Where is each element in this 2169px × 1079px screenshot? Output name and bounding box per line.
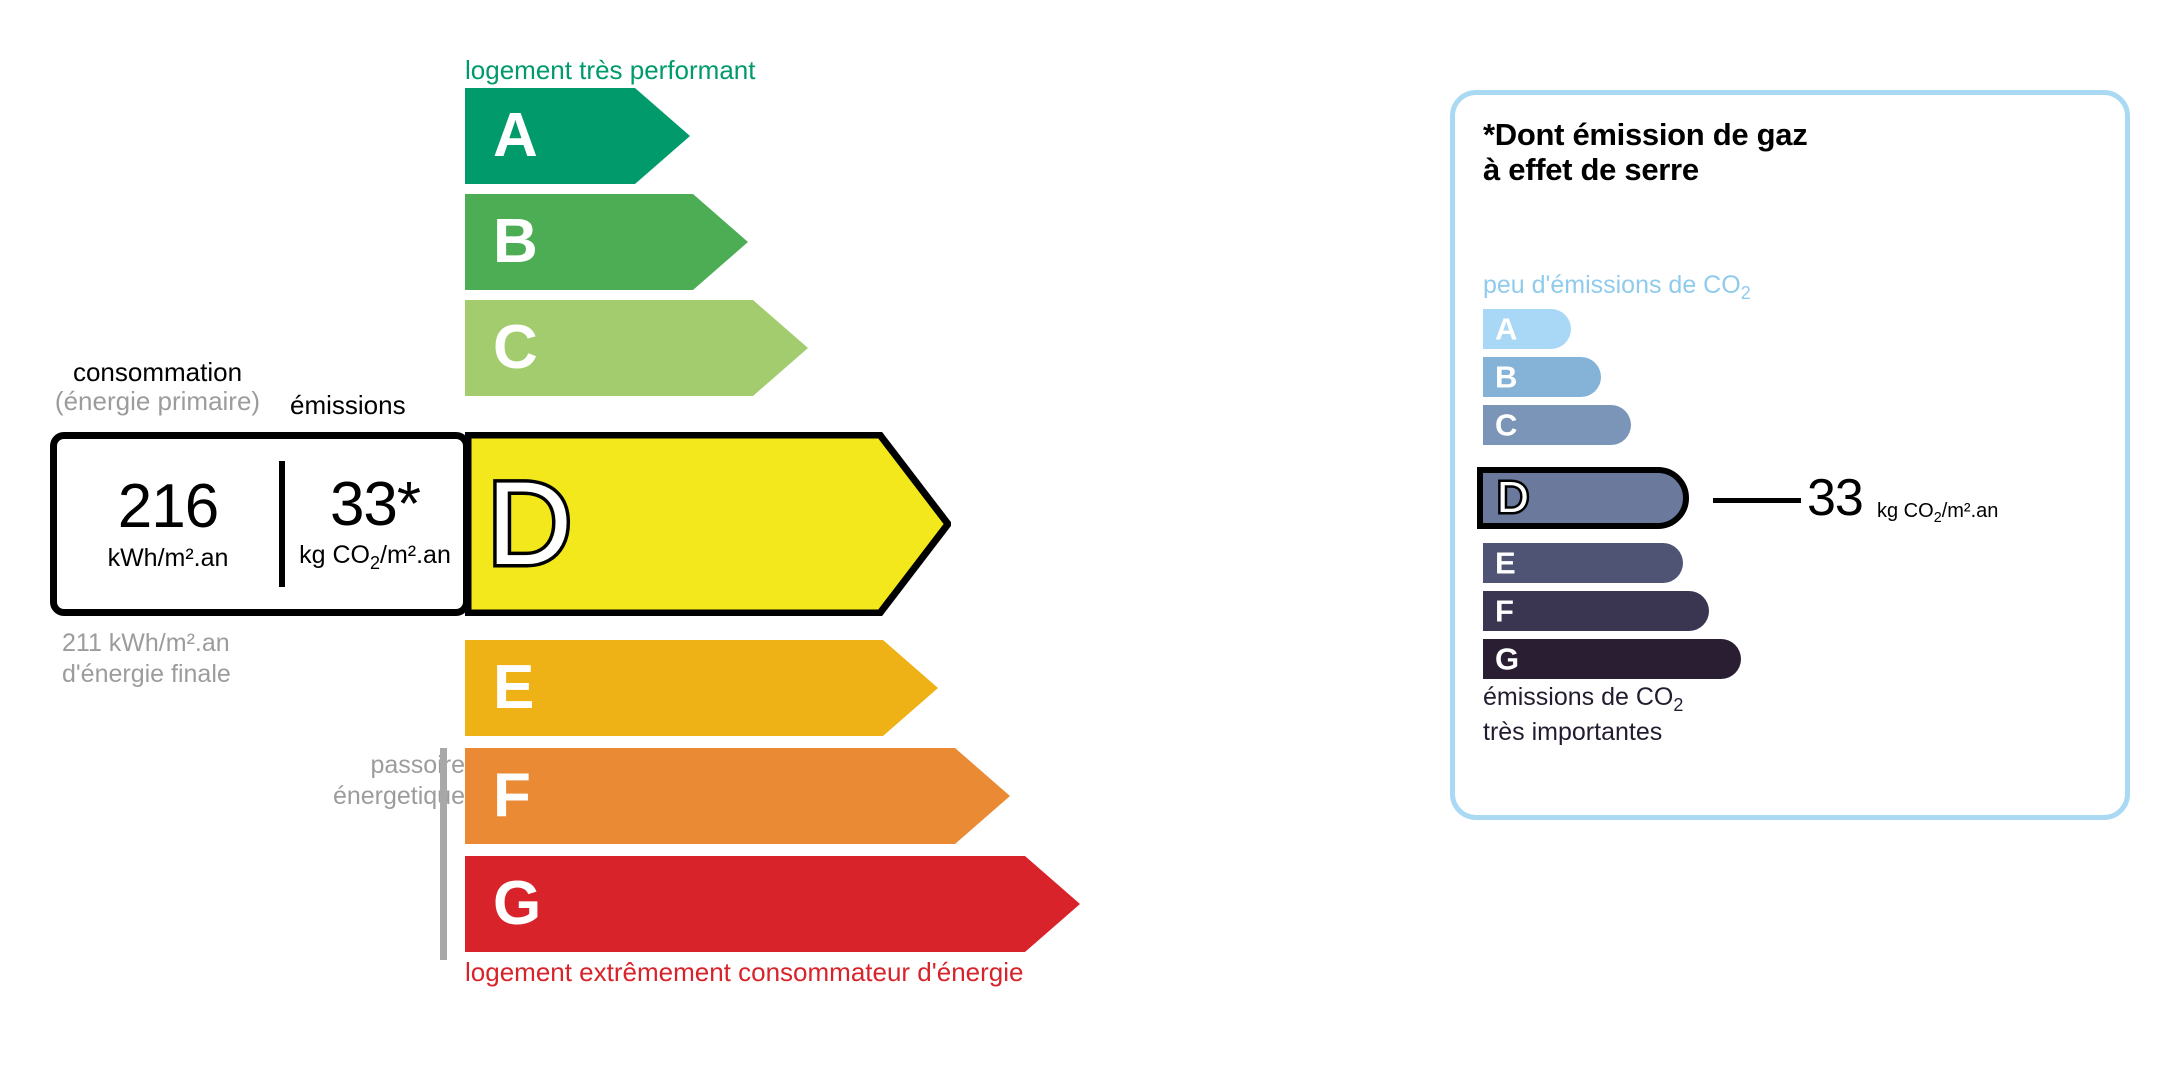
co2-title-line2: à effet de serre <box>1483 152 1807 187</box>
energy-band-F[interactable]: F <box>465 748 1010 844</box>
co2-bottom-caption-line1: émissions de CO2 <box>1483 682 1683 717</box>
passoire-bracket <box>440 748 447 960</box>
co2-bar-letter-E: E <box>1495 548 1516 579</box>
co2-bar-letter-F: F <box>1495 596 1514 627</box>
energy-band-A[interactable]: A <box>465 88 690 184</box>
co2-emissions-panel: *Dont émission de gaz à effet de serre p… <box>1450 90 2130 820</box>
energy-band-letter-D: D <box>487 465 572 583</box>
dpe-value-box: 216 kWh/m².an 33* kg CO2/m².an <box>50 432 470 616</box>
co2-bar-letter-B: B <box>1495 362 1517 393</box>
co2-bar-E[interactable]: E <box>1483 543 1683 583</box>
energy-band-letter-B: B <box>493 211 538 273</box>
energy-band-letter-A: A <box>493 105 538 167</box>
final-energy-note: 211 kWh/m².an d'énergie finale <box>62 628 231 690</box>
co2-bottom-caption-line2: très importantes <box>1483 717 1683 747</box>
co2-bar-D-selected[interactable]: D <box>1477 467 1689 529</box>
energy-band-letter-E: E <box>493 657 534 719</box>
co2-pill-C: C <box>1483 405 1631 445</box>
co2-pill-D: D <box>1477 467 1689 529</box>
passoire-line2: énergetique <box>280 781 465 812</box>
energy-band-C[interactable]: C <box>465 300 808 396</box>
energy-top-caption: logement très performant <box>465 55 755 86</box>
co2-bar-letter-C: C <box>1495 410 1517 441</box>
final-energy-line2: d'énergie finale <box>62 659 231 690</box>
energy-band-D-selected[interactable]: D <box>465 432 951 616</box>
co2-bar-letter-A: A <box>1495 314 1517 345</box>
co2-bar-C[interactable]: C <box>1483 405 1631 445</box>
co2-top-caption: peu d'émissions de CO2 <box>1483 271 1751 304</box>
consumption-value: 216 <box>118 475 218 538</box>
energy-band-B[interactable]: B <box>465 194 748 290</box>
consumption-unit: kWh/m².an <box>108 543 229 573</box>
final-energy-line1: 211 kWh/m².an <box>62 628 231 659</box>
band-arrow-shape-E <box>465 640 938 736</box>
co2-bar-G[interactable]: G <box>1483 639 1741 679</box>
co2-bottom-caption: émissions de CO2 très importantes <box>1483 682 1683 747</box>
co2-bar-letter-G: G <box>1495 644 1519 675</box>
passoire-note: passoire énergetique <box>280 750 465 811</box>
co2-bar-letter-D: D <box>1497 476 1529 520</box>
energy-band-G[interactable]: G <box>465 856 1080 952</box>
consumption-value-cell: 216 kWh/m².an <box>57 439 279 609</box>
emissions-label: émissions <box>290 390 406 421</box>
energy-band-E[interactable]: E <box>465 640 938 736</box>
emissions-unit: kg CO2/m².an <box>299 540 451 575</box>
co2-bar-A[interactable]: A <box>1483 309 1571 349</box>
passoire-line1: passoire <box>280 750 465 781</box>
co2-pill-G: G <box>1483 639 1741 679</box>
dpe-energy-diagram: logement très performant A B C D E <box>0 0 1400 1079</box>
co2-bar-B[interactable]: B <box>1483 357 1601 397</box>
emissions-value: 33* <box>330 473 420 536</box>
energy-band-letter-G: G <box>493 873 541 935</box>
consumption-label-main: consommation <box>73 357 242 387</box>
co2-pill-B: B <box>1483 357 1601 397</box>
energy-band-letter-F: F <box>493 765 531 827</box>
consumption-label: consommation (énergie primaire) <box>50 358 265 416</box>
co2-bar-F[interactable]: F <box>1483 591 1709 631</box>
co2-callout-unit: kg CO2/m².an <box>1877 500 1998 526</box>
co2-panel-title: *Dont émission de gaz à effet de serre <box>1483 117 1807 188</box>
emissions-value-cell: 33* kg CO2/m².an <box>285 439 465 609</box>
energy-bottom-caption: logement extrêmement consommateur d'éner… <box>465 957 1023 988</box>
co2-title-line1: *Dont émission de gaz <box>1483 117 1807 152</box>
co2-pill-F: F <box>1483 591 1709 631</box>
energy-band-letter-C: C <box>493 317 538 379</box>
co2-callout-value: 33 <box>1807 472 1863 524</box>
band-arrow-shape-G <box>465 856 1080 952</box>
co2-callout-leader-line <box>1713 498 1801 503</box>
co2-pill-E: E <box>1483 543 1683 583</box>
band-arrow-shape-F <box>465 748 1010 844</box>
co2-pill-A: A <box>1483 309 1571 349</box>
consumption-label-sub: (énergie primaire) <box>50 387 265 416</box>
